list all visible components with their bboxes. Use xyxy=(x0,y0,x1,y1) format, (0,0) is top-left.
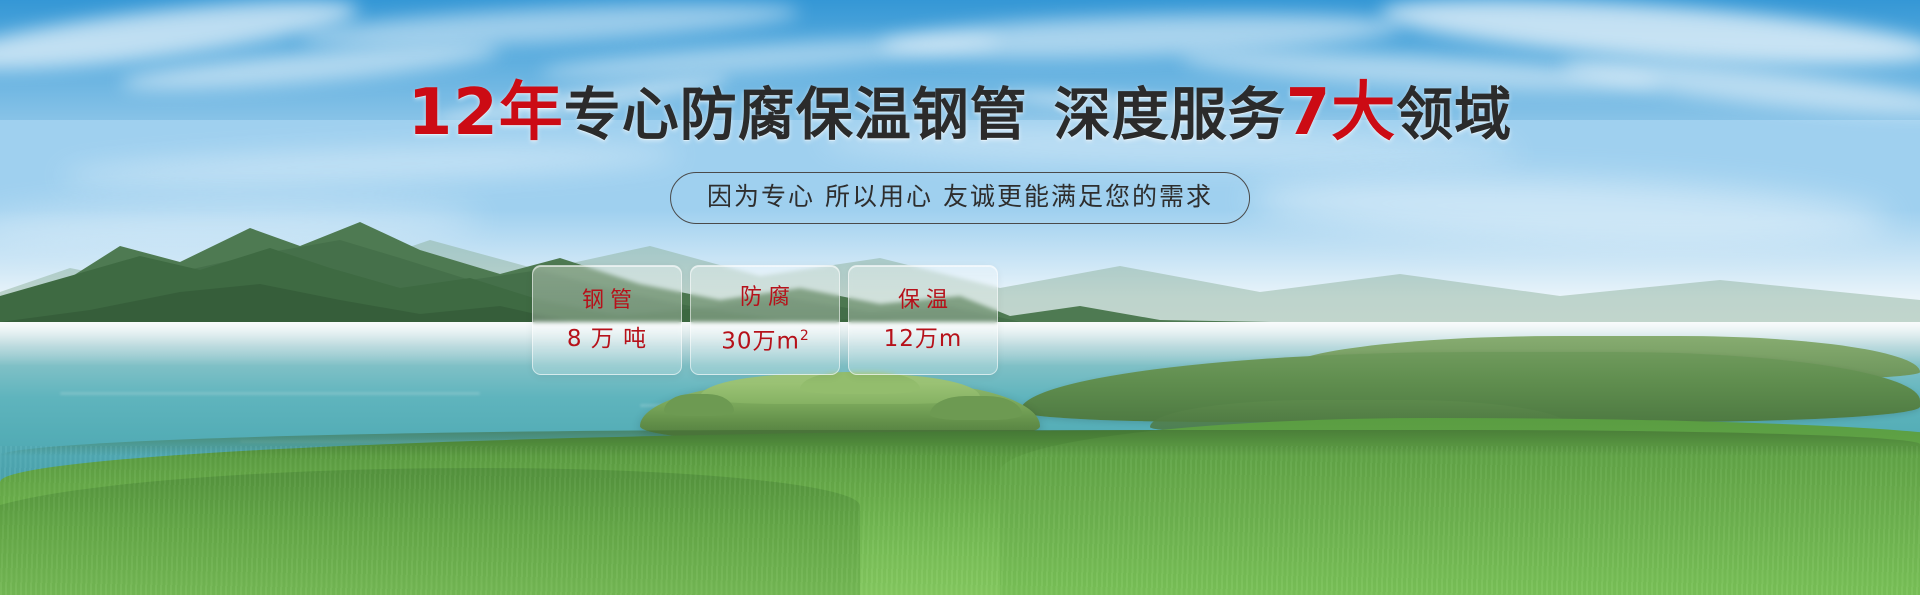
headline-service: 深度服务 xyxy=(1054,82,1286,148)
stat-card-label: 钢管 xyxy=(576,289,638,313)
stat-card-insulation[interactable]: 保温 12万m xyxy=(848,265,998,375)
stat-card-label: 保温 xyxy=(892,289,954,313)
headline-main: 专心防腐保温钢管 xyxy=(564,82,1028,148)
headline: 12年专心防腐保温钢管深度服务7大领域 xyxy=(0,82,1920,146)
stat-value-text: 30万m xyxy=(721,328,800,354)
headline-fields: 领域 xyxy=(1396,82,1512,148)
stat-card-value: 8 万 吨 xyxy=(567,327,647,352)
subtitle-pill: 因为专心 所以用心 友诚更能满足您的需求 xyxy=(670,172,1250,224)
headline-seven: 7大 xyxy=(1286,76,1397,150)
headline-years: 12年 xyxy=(408,76,564,150)
stat-cards: 钢管 8 万 吨 防腐 30万m2 保温 12万m xyxy=(532,265,998,375)
stat-card-label: 防腐 xyxy=(734,286,796,310)
promo-banner: 12年专心防腐保温钢管深度服务7大领域 因为专心 所以用心 友诚更能满足您的需求… xyxy=(0,0,1920,595)
banner-content: 12年专心防腐保温钢管深度服务7大领域 因为专心 所以用心 友诚更能满足您的需求… xyxy=(0,0,1920,595)
stat-card-value: 12万m xyxy=(884,327,963,352)
stat-card-anticorrosion[interactable]: 防腐 30万m2 xyxy=(690,265,840,375)
stat-value-text: 8 万 吨 xyxy=(567,326,647,352)
stat-card-steel-pipe[interactable]: 钢管 8 万 吨 xyxy=(532,265,682,375)
stat-card-value: 30万m2 xyxy=(721,324,809,355)
stat-value-exponent: 2 xyxy=(800,328,809,344)
stat-value-text: 12万m xyxy=(884,326,963,352)
